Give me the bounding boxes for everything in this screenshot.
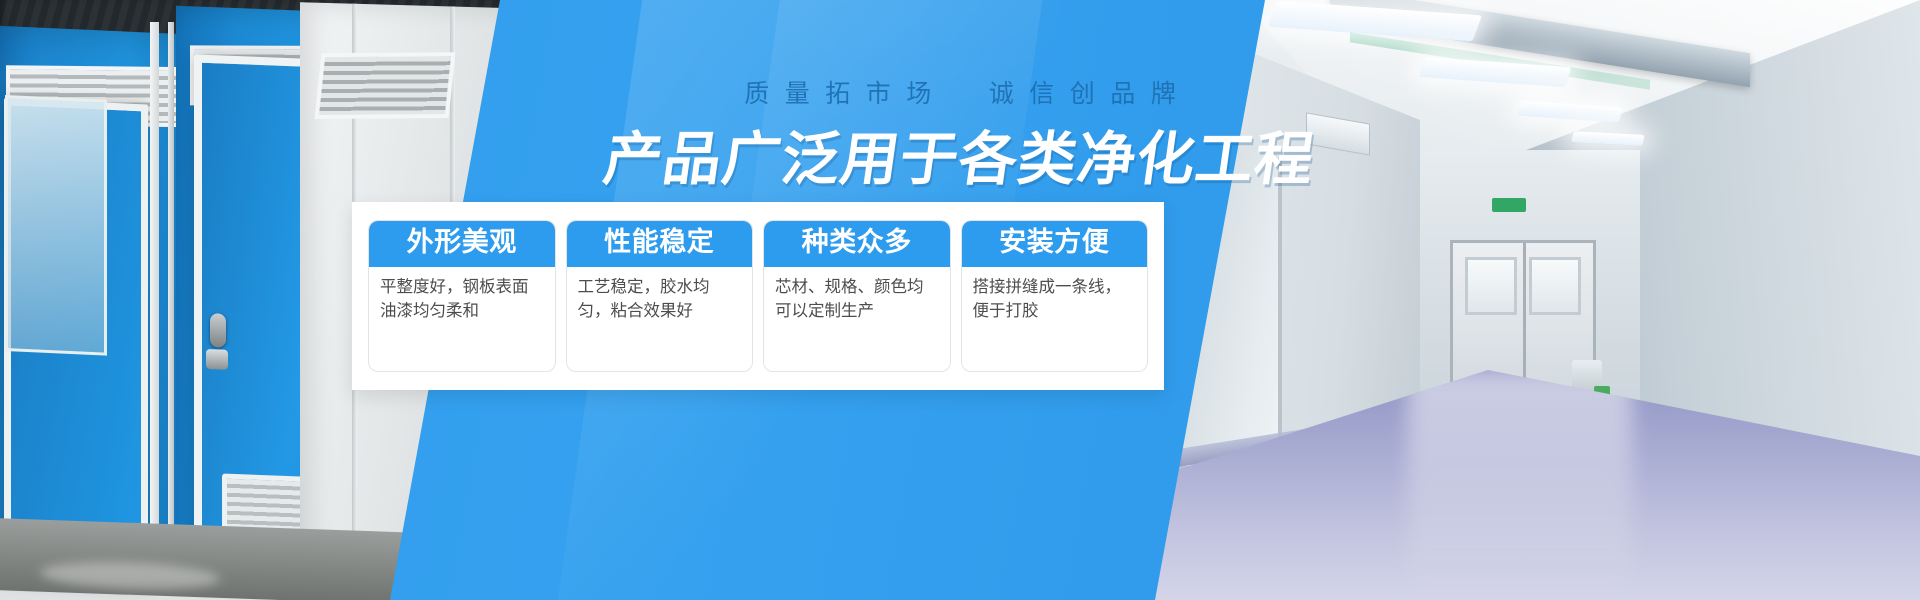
- feature-card-title: 安装方便: [962, 221, 1148, 267]
- door-lock-icon: [206, 349, 228, 370]
- feature-card[interactable]: 安装方便 搭接拼缝成一条线，便于打胶: [961, 220, 1149, 372]
- feature-card[interactable]: 外形美观 平整度好，钢板表面油漆均匀柔和: [368, 220, 556, 372]
- feature-cards-panel: 外形美观 平整度好，钢板表面油漆均匀柔和 性能稳定 工艺稳定，胶水均匀，粘合效果…: [352, 202, 1164, 390]
- feature-card-body: 搭接拼缝成一条线，便于打胶: [962, 267, 1148, 371]
- feature-card-body: 平整度好，钢板表面油漆均匀柔和: [369, 267, 555, 371]
- feature-card-body: 芯材、规格、颜色均可以定制生产: [764, 267, 950, 371]
- feature-card[interactable]: 性能稳定 工艺稳定，胶水均匀，粘合效果好: [566, 220, 754, 372]
- cabin-mullion: [168, 22, 174, 582]
- cabin-window-frame: [4, 98, 148, 589]
- door-viewport: [1529, 257, 1581, 315]
- exit-sign-icon: [1492, 198, 1526, 212]
- cabin-window-glass: [5, 95, 107, 356]
- door-viewport: [1465, 257, 1517, 315]
- promo-banner: 质量拓市场诚信创品牌 产品广泛用于各类净化工程 外形美观 平整度好，钢板表面油漆…: [0, 0, 1920, 600]
- feature-card-title: 外形美观: [369, 221, 555, 267]
- cabin-left-module: [0, 25, 192, 594]
- cabin-mullion: [150, 22, 159, 582]
- feature-card[interactable]: 种类众多 芯材、规格、颜色均可以定制生产: [763, 220, 951, 372]
- feature-card-title: 性能稳定: [567, 221, 753, 267]
- feature-card-title: 种类众多: [764, 221, 950, 267]
- door-handle-icon: [210, 313, 226, 348]
- feature-cards-list: 外形美观 平整度好，钢板表面油漆均匀柔和 性能稳定 工艺稳定，胶水均匀，粘合效果…: [352, 202, 1164, 390]
- cabin-louver-vent-icon: [315, 52, 456, 119]
- feature-card-body: 工艺稳定，胶水均匀，粘合效果好: [567, 267, 753, 371]
